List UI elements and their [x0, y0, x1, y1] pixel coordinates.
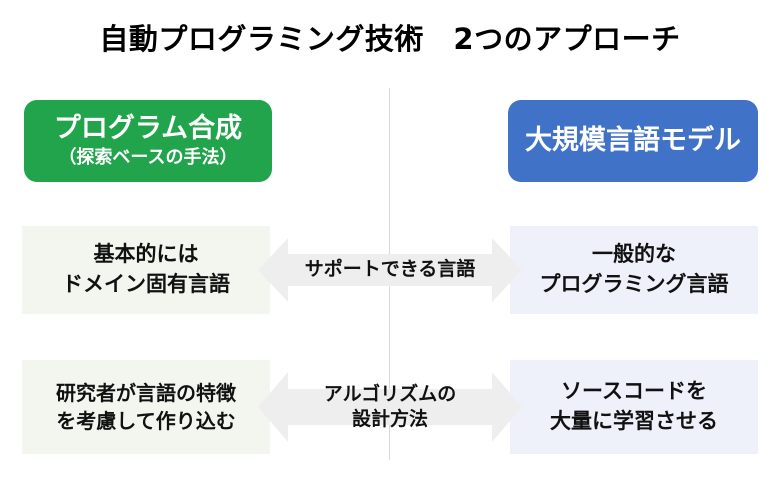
comparison-arrow-row2: アルゴリズムの 設計方法 — [258, 366, 522, 448]
page-title: 自動プログラミング技術 2つのアプローチ — [0, 16, 780, 58]
left-approach-subtitle: （探索ベースの手法） — [58, 148, 237, 168]
left-cell-row2-line2: を考慮して作り込む — [56, 407, 235, 435]
right-approach-header: 大規模言語モデル — [508, 100, 758, 182]
left-approach-title: プログラム合成 — [54, 114, 242, 144]
left-approach-header: プログラム合成 （探索ベースの手法） — [24, 100, 272, 182]
right-cell-row2: ソースコードを 大量に学習させる — [510, 360, 758, 454]
comparison-arrow-row1-label-line1: サポートできる言語 — [305, 257, 476, 282]
left-cell-row1-line1: 基本的には — [94, 240, 199, 270]
right-approach-title: 大規模言語モデル — [525, 126, 741, 156]
comparison-arrow-row2-label: アルゴリズムの 設計方法 — [324, 382, 456, 433]
comparison-arrow-row2-label-line1: アルゴリズムの — [324, 382, 456, 407]
left-cell-row2: 研究者が言語の特徴 を考慮して作り込む — [22, 360, 270, 454]
right-cell-row2-line1: ソースコードを — [561, 377, 707, 407]
left-cell-row1: 基本的には ドメイン固有言語 — [22, 226, 270, 314]
slide-canvas: 自動プログラミング技術 2つのアプローチ プログラム合成 （探索ベースの手法） … — [0, 0, 780, 478]
comparison-arrow-row2-label-line2: 設計方法 — [324, 407, 456, 432]
right-cell-row1: 一般的な プログラミング言語 — [510, 226, 758, 314]
right-cell-row1-line2: プログラミング言語 — [540, 270, 729, 300]
right-cell-row2-line2: 大量に学習させる — [550, 407, 718, 437]
left-cell-row2-line1: 研究者が言語の特徴 — [56, 379, 236, 407]
comparison-arrow-row1-label: サポートできる言語 — [305, 257, 476, 282]
comparison-arrow-row1: サポートできる言語 — [258, 232, 522, 308]
right-cell-row1-line1: 一般的な — [592, 240, 676, 270]
left-cell-row1-line2: ドメイン固有言語 — [62, 270, 230, 300]
